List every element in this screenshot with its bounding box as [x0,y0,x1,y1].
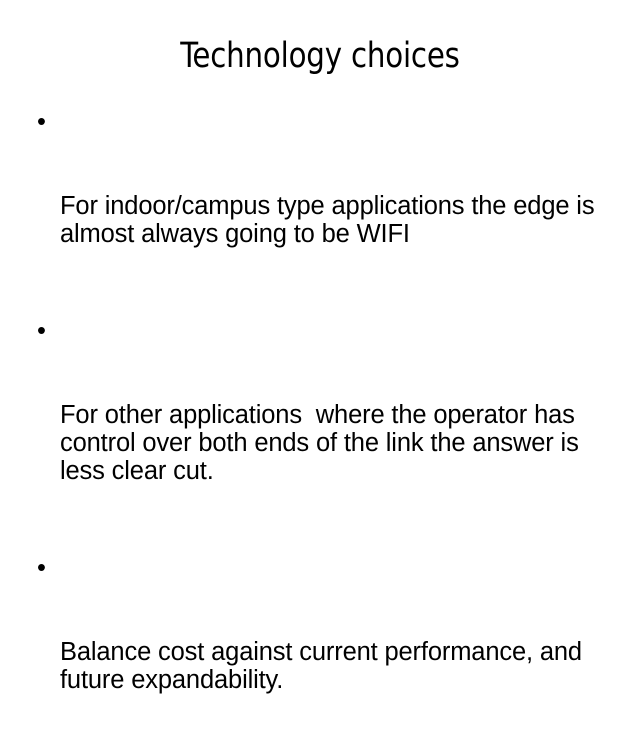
bullet-dot-icon: • [37,108,55,136]
list-item-text: For other applications where the operato… [60,401,620,485]
list-item-text: For indoor/campus type applications the … [60,192,620,248]
presentation-slide: Technology choices • For indoor/campus t… [0,0,640,480]
list-item: • For indoor/campus type applications th… [30,108,620,304]
list-item: • For other applications where the opera… [30,317,620,541]
slide-body-content: • For indoor/campus type applications th… [30,108,620,750]
list-item: • Balance cost against current performan… [30,554,620,750]
bullet-dot-icon: • [37,317,55,345]
bullet-dot-icon: • [37,554,55,582]
page-title: Technology choices [22,36,617,76]
list-item-text: Balance cost against current performance… [60,638,620,694]
